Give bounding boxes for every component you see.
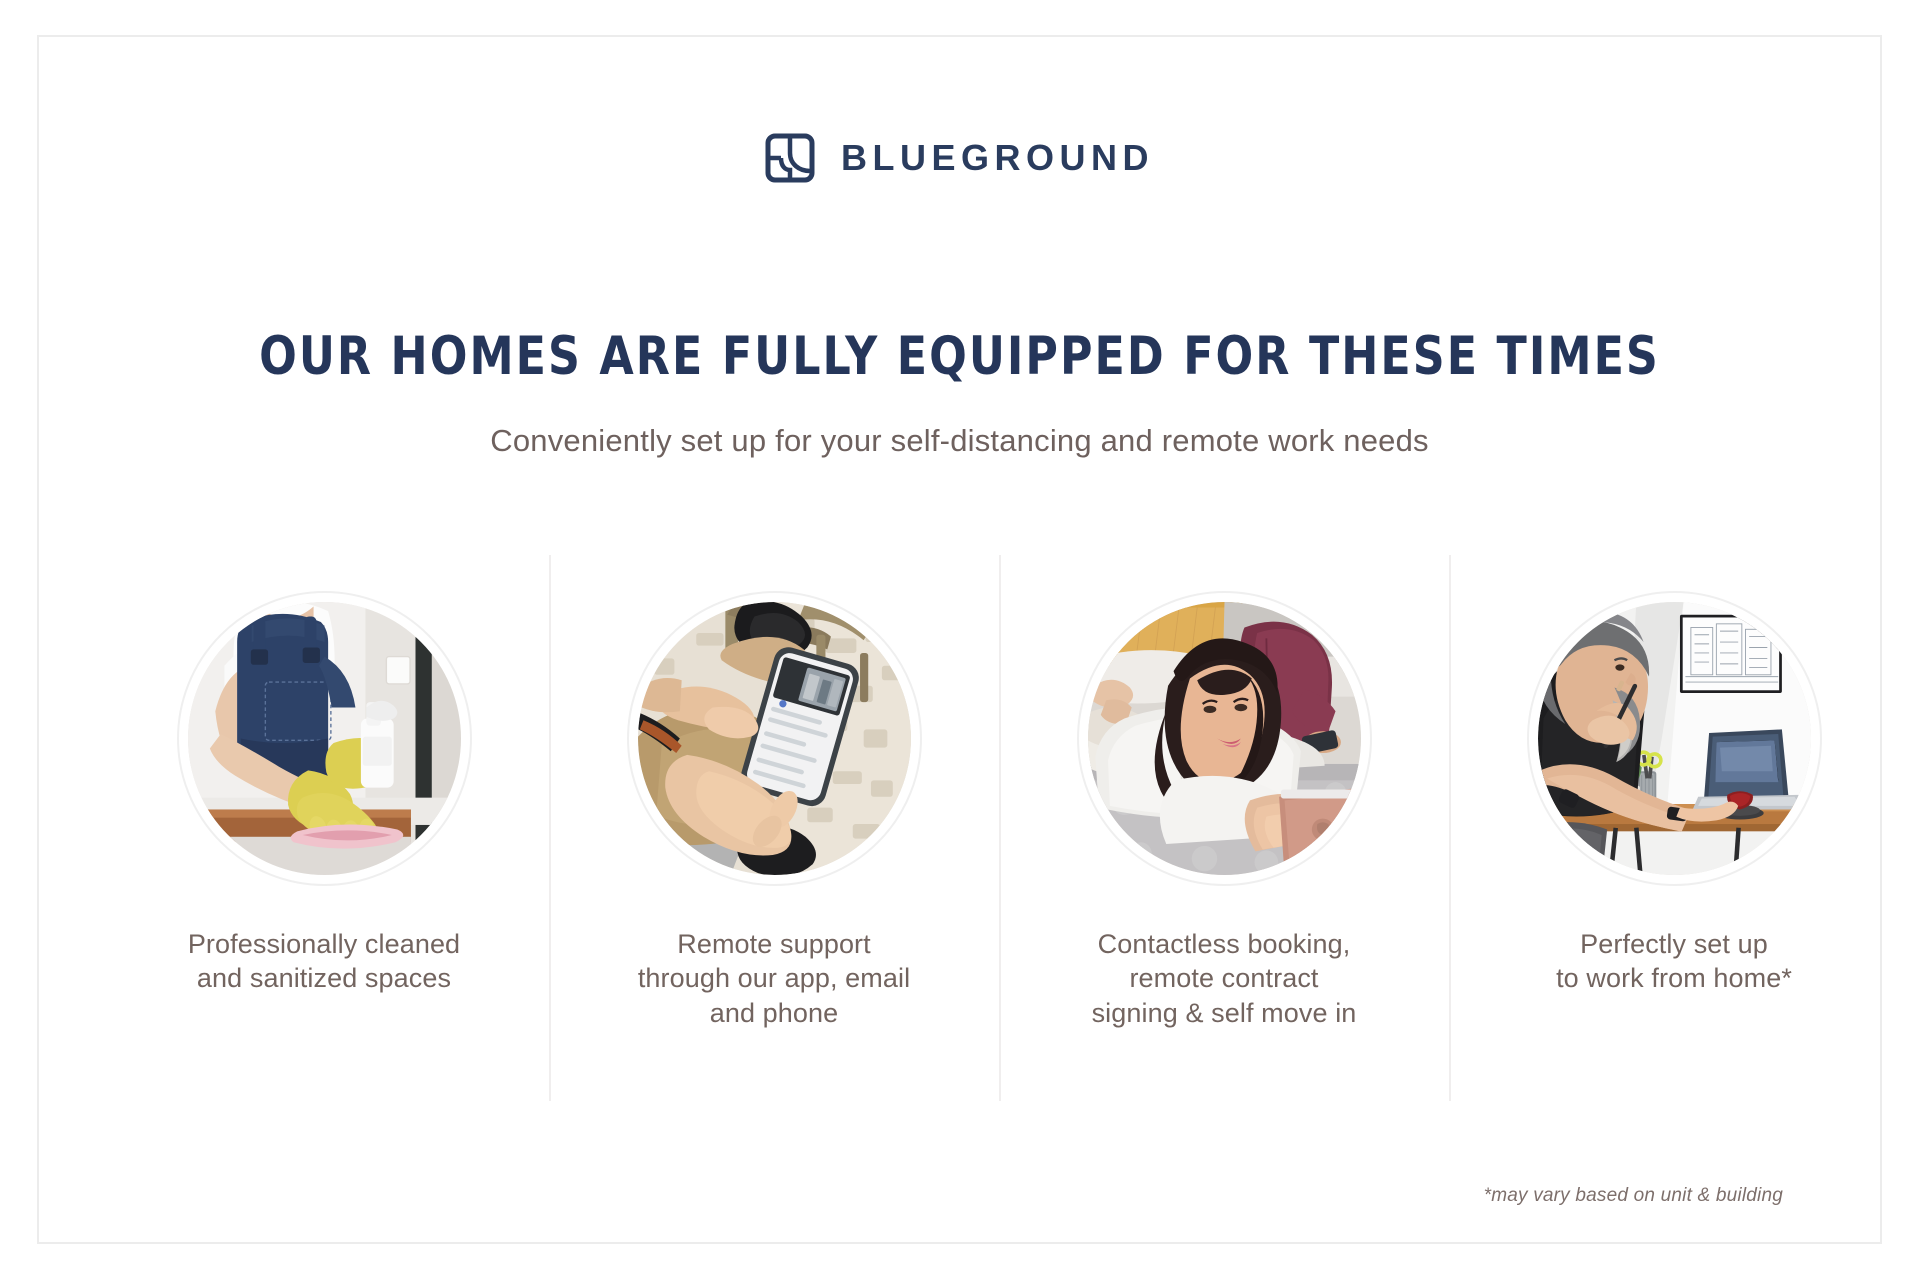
feature-image-ring — [627, 591, 922, 886]
feature-item-remote-support: Remote support through our app, email an… — [549, 555, 999, 1101]
mobile-support-photo — [638, 602, 911, 875]
feature-item-contactless-booking: Contactless booking, remote contract sig… — [999, 555, 1449, 1101]
page-headline: OUR HOMES ARE FULLY EQUIPPED FOR THESE T… — [103, 329, 1815, 385]
feature-list: Professionally cleaned and sanitized spa… — [99, 555, 1899, 1101]
blueground-square-mark-icon — [765, 133, 815, 183]
footnote-text: *may vary based on unit & building — [1484, 1185, 1783, 1207]
feature-image-ring — [1077, 591, 1372, 886]
brand-logo: BLUEGROUND — [39, 133, 1880, 183]
feature-image-ring — [177, 591, 472, 886]
feature-caption: Perfectly set up to work from home* — [1556, 927, 1792, 996]
content-frame: BLUEGROUND OUR HOMES ARE FULLY EQUIPPED … — [37, 35, 1882, 1244]
page-subtitle: Conveniently set up for your self-distan… — [39, 422, 1880, 459]
feature-item-work-from-home: Perfectly set up to work from home* — [1449, 555, 1899, 1101]
brand-wordmark: BLUEGROUND — [841, 140, 1154, 176]
poster-canvas: BLUEGROUND OUR HOMES ARE FULLY EQUIPPED … — [0, 0, 1920, 1280]
feature-caption: Remote support through our app, email an… — [638, 927, 910, 1030]
work-from-home-photo — [1538, 602, 1811, 875]
feature-caption: Professionally cleaned and sanitized spa… — [188, 927, 460, 996]
cleaning-photo — [188, 602, 461, 875]
feature-caption: Contactless booking, remote contract sig… — [1092, 927, 1357, 1030]
feature-item-cleaning: Professionally cleaned and sanitized spa… — [99, 555, 549, 1101]
contactless-booking-photo — [1088, 602, 1361, 875]
feature-image-ring — [1527, 591, 1822, 886]
